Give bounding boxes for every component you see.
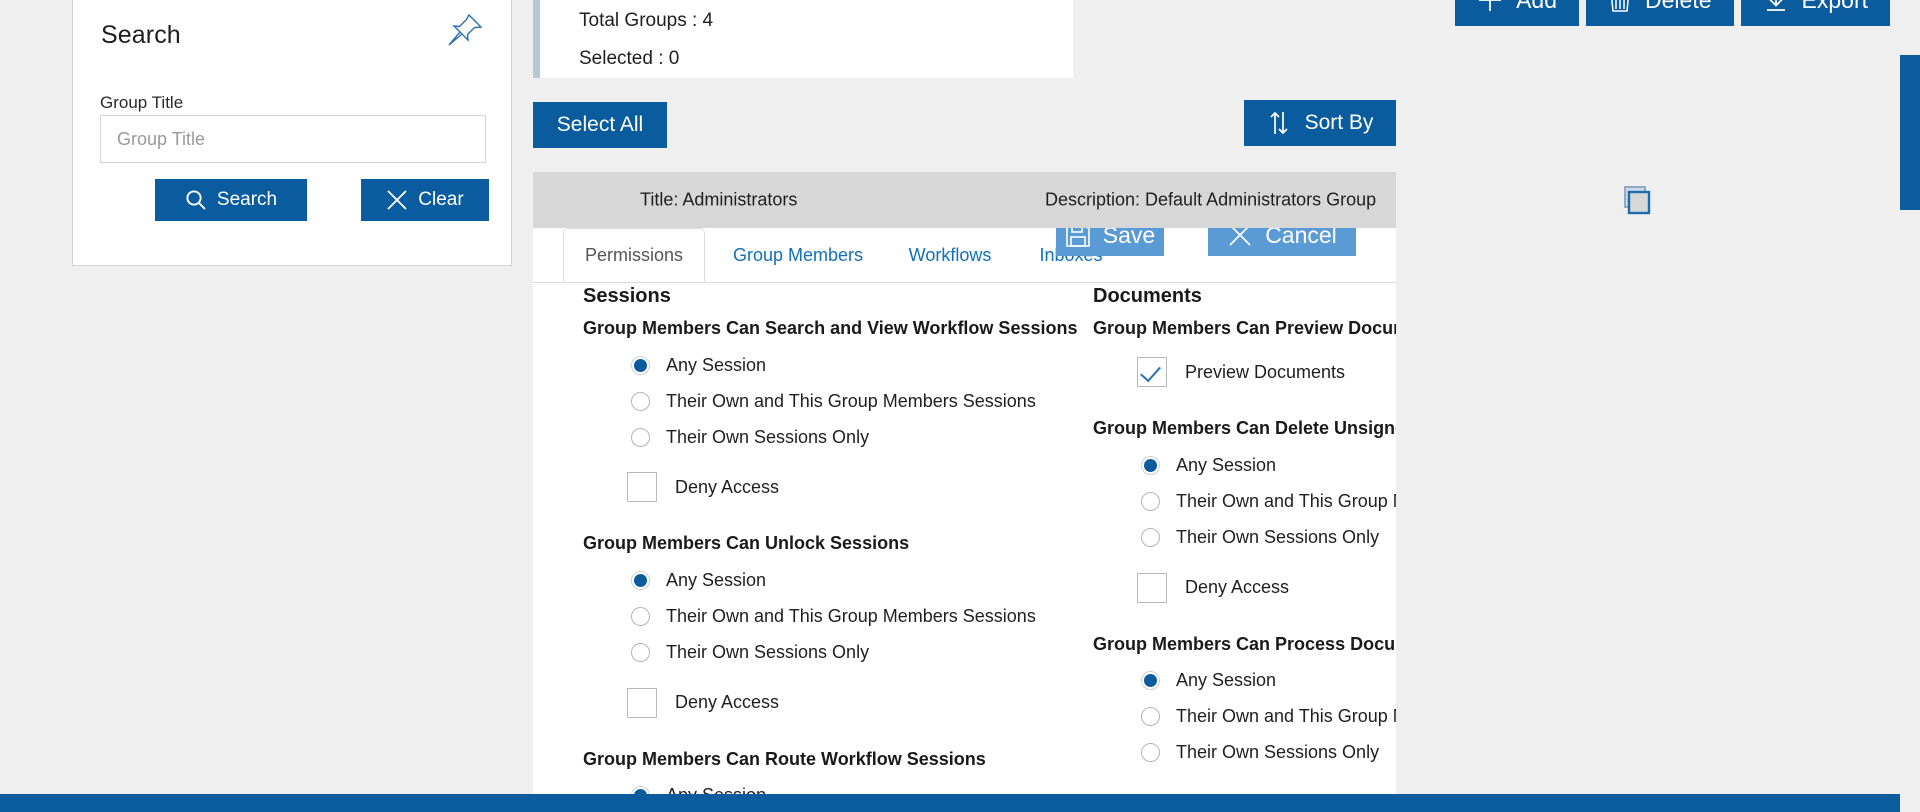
checkbox-input[interactable] bbox=[1137, 573, 1167, 603]
radio-option-label: Their Own Sessions Only bbox=[1176, 527, 1379, 548]
delete-button-label: Delete bbox=[1645, 0, 1711, 14]
radio-option-label: Their Own and This Group Members Session… bbox=[666, 391, 1036, 412]
tab-workflows-label: Workflows bbox=[909, 245, 992, 266]
tab-group-members-label: Group Members bbox=[733, 245, 863, 266]
radio-option-label: Their Own and This Group Members Session… bbox=[1176, 706, 1396, 727]
radio-button[interactable] bbox=[1141, 528, 1160, 547]
save-button[interactable]: Save bbox=[1056, 228, 1164, 256]
sort-by-button[interactable]: Sort By bbox=[1244, 100, 1396, 146]
permissions-body: SessionsGroup Members Can Search and Vie… bbox=[533, 283, 1396, 812]
group-title-text: Title: Administrators bbox=[640, 190, 797, 211]
x-icon bbox=[386, 189, 408, 211]
tab-bar: Permissions Group Members Workflows Inbo… bbox=[533, 228, 1396, 283]
checkbox-option-label: Deny Access bbox=[675, 692, 779, 713]
selected-count-text: Selected : 0 bbox=[579, 48, 679, 70]
cancel-button[interactable]: Cancel bbox=[1208, 228, 1356, 256]
search-panel: Search Group Title Search Clear bbox=[72, 0, 512, 266]
tab-permissions-label: Permissions bbox=[585, 245, 683, 266]
radio-option[interactable]: Any Session bbox=[1093, 448, 1396, 484]
checkbox-input[interactable] bbox=[627, 688, 657, 718]
radio-option[interactable]: Their Own and This Group Members Session… bbox=[1093, 484, 1396, 520]
trash-icon bbox=[1608, 0, 1632, 13]
top-action-bar: Add Delete Export bbox=[1455, 0, 1890, 26]
radio-option-label: Any Session bbox=[666, 570, 766, 591]
magnifier-icon bbox=[185, 189, 207, 211]
checkbox-option[interactable]: Deny Access bbox=[1093, 566, 1396, 610]
download-icon bbox=[1763, 0, 1789, 13]
page-scrollbar-track[interactable] bbox=[1900, 0, 1920, 812]
tab-permissions[interactable]: Permissions bbox=[563, 228, 705, 282]
radio-option[interactable]: Their Own Sessions Only bbox=[1093, 520, 1396, 556]
checkbox-input[interactable] bbox=[1137, 357, 1167, 387]
summary-card: Total Groups : 4 Selected : 0 bbox=[533, 0, 1073, 78]
radio-button[interactable] bbox=[631, 643, 650, 662]
group-description-text: Description: Default Administrators Grou… bbox=[1045, 190, 1376, 211]
radio-button[interactable] bbox=[1141, 492, 1160, 511]
plus-icon bbox=[1477, 0, 1503, 13]
radio-button[interactable] bbox=[631, 428, 650, 447]
copy-icon[interactable] bbox=[1618, 182, 1654, 218]
permission-group: Group Members Can Process Documents (Exi… bbox=[1093, 632, 1396, 771]
radio-option-label: Their Own and This Group Members Session… bbox=[1176, 491, 1396, 512]
group-detail-panel: Permissions Group Members Workflows Inbo… bbox=[533, 228, 1396, 812]
radio-option-label: Their Own Sessions Only bbox=[666, 642, 869, 663]
clear-button[interactable]: Clear bbox=[361, 179, 489, 221]
radio-button[interactable] bbox=[1141, 707, 1160, 726]
pin-icon[interactable] bbox=[445, 11, 485, 51]
cancel-button-label: Cancel bbox=[1265, 228, 1337, 249]
radio-option[interactable]: Their Own and This Group Members Session… bbox=[1093, 699, 1396, 735]
radio-button[interactable] bbox=[1141, 743, 1160, 762]
section-title: Documents bbox=[1093, 283, 1396, 310]
add-button-label: Add bbox=[1516, 0, 1557, 14]
group-title-label: Group Title bbox=[100, 93, 183, 113]
export-button-label: Export bbox=[1802, 0, 1868, 14]
radio-option-label: Any Session bbox=[1176, 670, 1276, 691]
radio-option-label: Their Own Sessions Only bbox=[1176, 742, 1379, 763]
radio-option-label: Their Own and This Group Members Session… bbox=[666, 606, 1036, 627]
export-button[interactable]: Export bbox=[1741, 0, 1890, 26]
radio-button[interactable] bbox=[631, 392, 650, 411]
search-button[interactable]: Search bbox=[155, 179, 307, 221]
sort-by-label: Sort By bbox=[1305, 111, 1374, 135]
bottom-status-bar bbox=[0, 794, 1900, 812]
permission-group-title: Group Members Can Preview Documents (New… bbox=[1093, 316, 1396, 340]
left-gutter bbox=[0, 0, 72, 812]
select-all-button[interactable]: Select All bbox=[533, 102, 667, 148]
floppy-disk-icon bbox=[1065, 228, 1091, 248]
radio-button[interactable] bbox=[1141, 671, 1160, 690]
clear-button-label: Clear bbox=[418, 189, 463, 211]
search-button-label: Search bbox=[217, 189, 277, 211]
radio-button[interactable] bbox=[631, 571, 650, 590]
radio-option-label: Any Session bbox=[666, 355, 766, 376]
search-panel-title: Search bbox=[101, 21, 181, 50]
save-button-label: Save bbox=[1103, 228, 1155, 249]
group-row-header[interactable]: Title: Administrators Description: Defau… bbox=[533, 172, 1396, 228]
checkbox-option-label: Deny Access bbox=[675, 477, 779, 498]
checkbox-option-label: Preview Documents bbox=[1185, 362, 1345, 383]
page-scrollbar-thumb[interactable] bbox=[1900, 55, 1920, 210]
x-icon bbox=[1227, 228, 1253, 248]
permission-group: Group Members Can Preview Documents (New… bbox=[1093, 316, 1396, 394]
radio-button[interactable] bbox=[631, 607, 650, 626]
select-all-label: Select All bbox=[557, 113, 643, 137]
tab-group-members[interactable]: Group Members bbox=[713, 228, 883, 282]
radio-button[interactable] bbox=[631, 356, 650, 375]
checkbox-option-label: Deny Access bbox=[1185, 577, 1289, 598]
radio-option[interactable]: Any Session bbox=[1093, 663, 1396, 699]
group-title-input[interactable] bbox=[100, 115, 486, 163]
add-button[interactable]: Add bbox=[1455, 0, 1579, 26]
permission-group-title: Group Members Can Delete Unsigned Docume… bbox=[1093, 416, 1396, 440]
permission-group-title: Group Members Can Process Documents (Exi… bbox=[1093, 632, 1396, 656]
radio-option-label: Any Session bbox=[1176, 455, 1276, 476]
radio-button[interactable] bbox=[1141, 456, 1160, 475]
delete-button[interactable]: Delete bbox=[1586, 0, 1733, 26]
sort-arrows-icon bbox=[1267, 110, 1291, 136]
checkbox-input[interactable] bbox=[627, 472, 657, 502]
tab-workflows[interactable]: Workflows bbox=[888, 228, 1012, 282]
app-root: Search Group Title Search Clear bbox=[0, 0, 1920, 812]
radio-option[interactable]: Their Own Sessions Only bbox=[1093, 735, 1396, 771]
radio-option-label: Their Own Sessions Only bbox=[666, 427, 869, 448]
permissions-column-documents: DocumentsGroup Members Can Preview Docum… bbox=[1093, 283, 1396, 812]
checkbox-option[interactable]: Preview Documents bbox=[1093, 350, 1396, 394]
total-groups-text: Total Groups : 4 bbox=[579, 10, 713, 32]
permission-group: Group Members Can Delete Unsigned Docume… bbox=[1093, 416, 1396, 609]
